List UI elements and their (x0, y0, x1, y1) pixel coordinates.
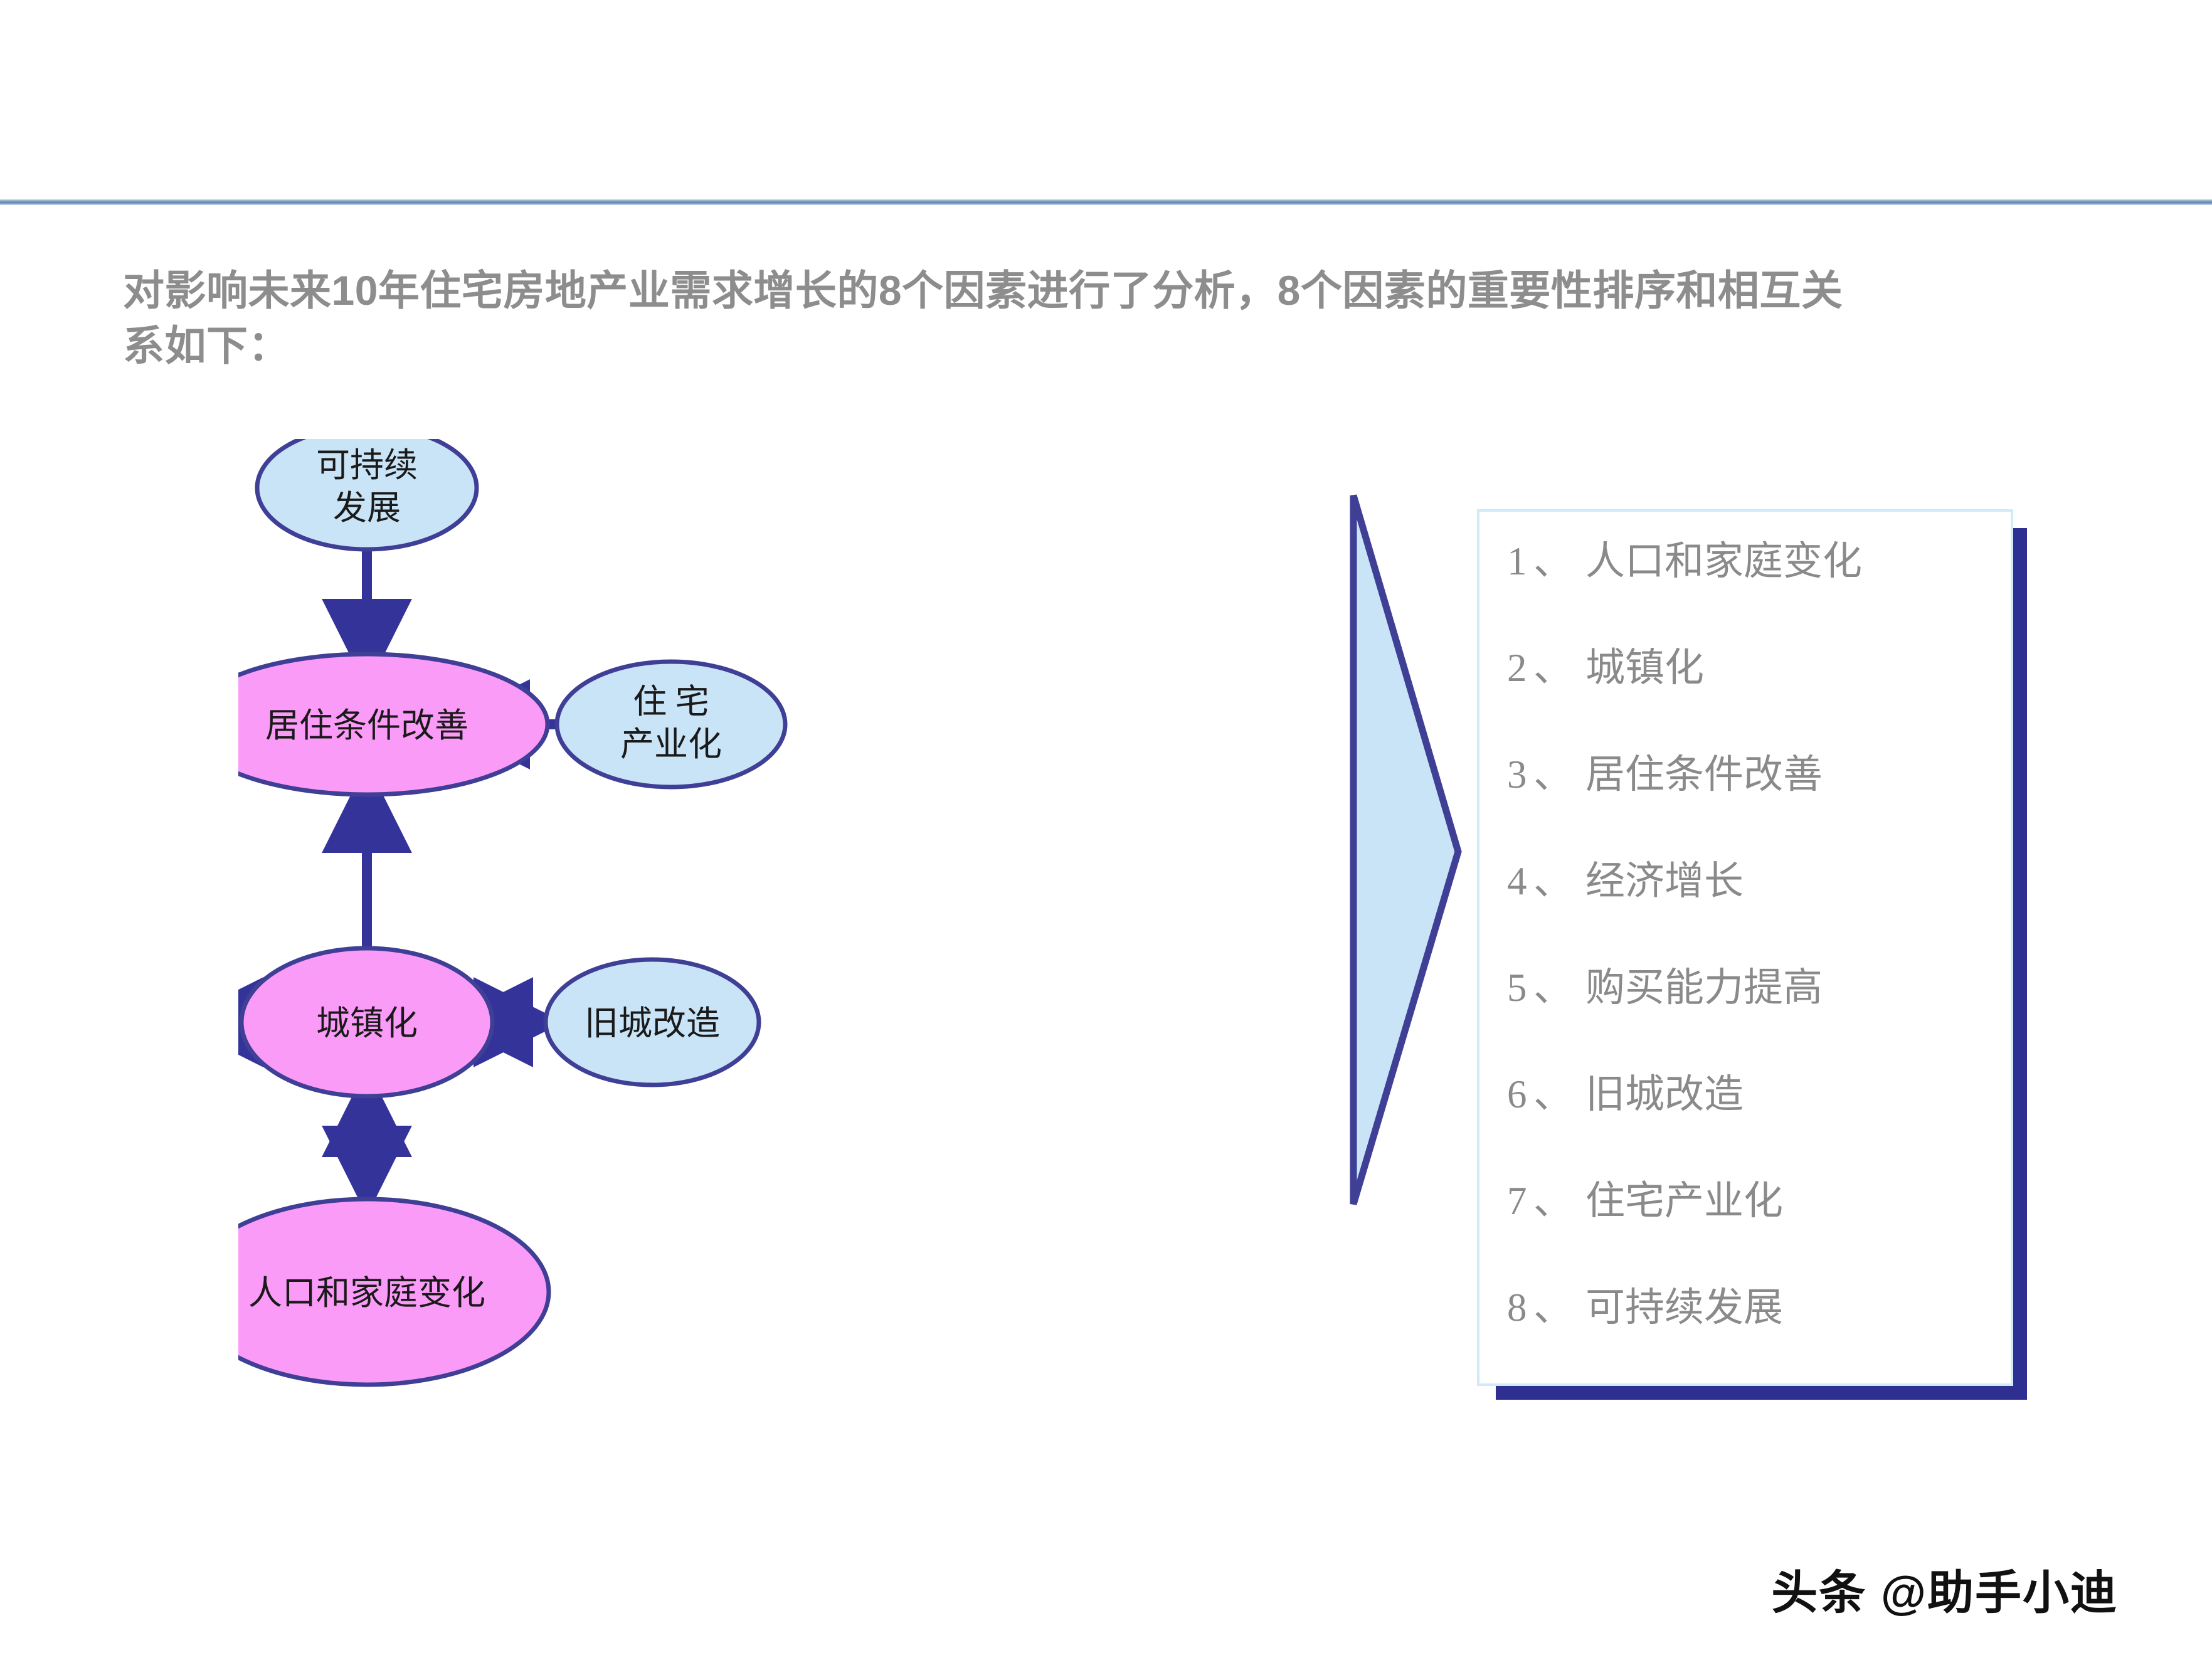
list-item-label: 住宅产业化 (1585, 1169, 1783, 1226)
list-item-label: 可持续发展 (1585, 1276, 1783, 1333)
list-item: 4 、 经济增长 (1507, 849, 2003, 956)
list-item: 5 、 购买能力提高 (1507, 956, 2003, 1062)
page-title: 对影响未来10年住宅房地产业需求增长的8个因素进行了分析，8个因素的重要性排序和… (123, 263, 1866, 374)
node-sustainable[interactable]: 可持续 发展 (257, 439, 477, 549)
node-industrialize-line-1: 住 宅 (633, 683, 709, 721)
list-item: 8 、 可持续发展 (1507, 1276, 2003, 1382)
node-living-conditions[interactable]: 居住条件改善 (238, 654, 548, 795)
node-industrialize-line-2: 产业化 (620, 726, 722, 763)
node-living-line-1: 居住条件改善 (265, 707, 468, 744)
node-urbanization-line-1: 城镇化 (316, 1005, 418, 1042)
list-item: 2 、 城镇化 (1507, 636, 2003, 743)
list-item-label: 居住条件改善 (1585, 743, 1823, 800)
chevron-right-icon (1342, 489, 1474, 1210)
node-urbanization[interactable]: 城镇化 (241, 948, 492, 1096)
list-item-separator: 、 (1533, 956, 1573, 1013)
node-sustainable-line-1: 可持续 (316, 447, 418, 484)
list-item-label: 旧城改造 (1585, 1062, 1744, 1119)
list-item-label: 购买能力提高 (1585, 956, 1823, 1013)
edge-layer (238, 549, 561, 1198)
node-oldcity-line-1: 旧城改造 (585, 1005, 720, 1042)
list-item-separator: 、 (1533, 1276, 1573, 1333)
node-sustainable-line-2: 发展 (333, 489, 401, 527)
ranking-list: 1 、 人口和家庭变化 2 、 城镇化 3 、 居住条件改善 4 、 经济增长 … (1507, 529, 2003, 1382)
list-item-index: 2 (1507, 645, 1533, 691)
chevron-shape (1353, 495, 1458, 1204)
node-population-line-1: 人口和家庭变化 (248, 1274, 485, 1312)
list-item-index: 1 (1507, 539, 1533, 584)
list-item: 1 、 人口和家庭变化 (1507, 529, 2003, 636)
header-divider (0, 199, 2212, 205)
watermark: 头条 @助手小迪 (1771, 1555, 2118, 1622)
node-housing-industrialization[interactable]: 住 宅 产业化 (557, 662, 785, 787)
list-item-separator: 、 (1533, 1062, 1573, 1119)
node-population-family[interactable]: 人口和家庭变化 (238, 1199, 549, 1385)
list-item-index: 5 (1507, 965, 1533, 1011)
list-item-separator: 、 (1533, 529, 1573, 586)
list-item-label: 人口和家庭变化 (1585, 529, 1862, 586)
node-old-city-renovation[interactable]: 旧城改造 (546, 960, 759, 1085)
list-item-label: 经济增长 (1585, 849, 1744, 906)
list-item-index: 7 (1507, 1178, 1533, 1224)
diagram-canvas: 可持续 发展 购买能 力提高 居住条件改善 住 宅 产业化 经济增长 及产业 结… (238, 439, 1367, 1474)
list-item-label: 城镇化 (1585, 636, 1704, 693)
list-item-separator: 、 (1533, 743, 1573, 800)
list-item-separator: 、 (1533, 636, 1573, 693)
ranking-panel: 1 、 人口和家庭变化 2 、 城镇化 3 、 居住条件改善 4 、 经济增长 … (1477, 509, 2013, 1386)
list-item-separator: 、 (1533, 1169, 1573, 1226)
list-item-index: 4 (1507, 859, 1533, 904)
list-item: 7 、 住宅产业化 (1507, 1169, 2003, 1276)
list-item: 6 、 旧城改造 (1507, 1062, 2003, 1169)
list-item: 3 、 居住条件改善 (1507, 743, 2003, 849)
list-item-separator: 、 (1533, 849, 1573, 906)
factor-relationship-diagram: 可持续 发展 购买能 力提高 居住条件改善 住 宅 产业化 经济增长 及产业 结… (238, 439, 1367, 1474)
list-item-index: 6 (1507, 1072, 1533, 1118)
list-item-index: 3 (1507, 752, 1533, 798)
list-item-index: 8 (1507, 1285, 1533, 1331)
